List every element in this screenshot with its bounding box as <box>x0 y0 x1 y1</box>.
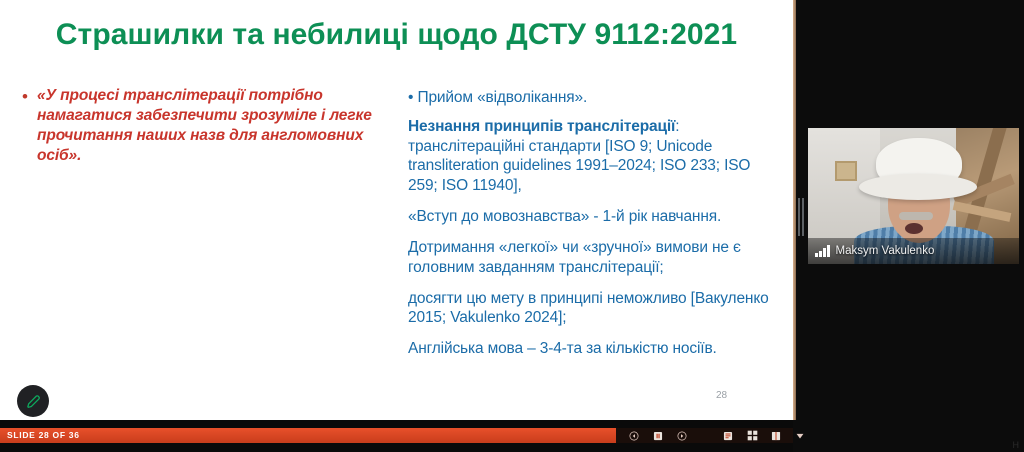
bullet-dot-icon: • <box>22 86 28 107</box>
right-paragraph-5: досягти цю мету в принципі неможливо [Ва… <box>408 289 778 329</box>
bullet-dot-icon: • <box>408 89 413 106</box>
right-paragraph-2-bold: принципів транслітерації <box>484 118 675 135</box>
video-person-hat-brim <box>859 174 977 200</box>
book-icon <box>771 431 781 441</box>
right-paragraph-4: Дотримання «легкої» чи «зручної» вимови … <box>408 238 778 278</box>
pencil-icon <box>25 393 42 410</box>
signal-bar-4 <box>827 245 830 257</box>
player-controls <box>628 428 806 443</box>
watermark-text: H <box>1013 440 1021 450</box>
signal-bar-3 <box>823 248 826 257</box>
grid-icon <box>747 430 758 441</box>
video-name-bar: Maksym Vakulenko <box>808 238 1019 264</box>
participant-name-label: Maksym Vakulenko <box>836 245 935 257</box>
forward-icon <box>677 431 687 441</box>
left-bullet-item: • «У процесі транслітерації потрібно нам… <box>22 86 374 167</box>
forward-button[interactable] <box>676 430 688 442</box>
video-bg-wall-frame <box>835 161 857 181</box>
video-tile[interactable]: Maksym Vakulenko <box>808 128 1019 264</box>
book-button[interactable] <box>770 430 782 442</box>
slide-right-column: • Прийом «відволікання». Незнання принци… <box>408 88 778 370</box>
handle-bar-1 <box>798 198 800 236</box>
slide-progress-bar[interactable]: SLIDE 28 OF 36 <box>0 428 793 443</box>
right-paragraph-6: Англійська мова – 3-4-та за кількістю но… <box>408 339 778 359</box>
rewind-icon <box>629 431 639 441</box>
video-person-moustache <box>899 212 933 220</box>
grid-view-button[interactable] <box>746 430 758 442</box>
right-paragraph-1-text: Прийом «відволікання». <box>417 89 587 106</box>
slide-left-column: • «У процесі транслітерації потрібно нам… <box>22 86 374 167</box>
player-bottom-bar: SLIDE 28 OF 36 <box>0 420 793 452</box>
signal-bar-2 <box>819 251 822 258</box>
chevron-down-icon <box>795 431 805 441</box>
panel-divider <box>793 0 796 420</box>
notes-button[interactable] <box>722 430 734 442</box>
panel-resize-handle[interactable] <box>798 198 806 236</box>
signal-bars-icon <box>815 245 830 257</box>
play-pause-button[interactable] <box>652 430 664 442</box>
rewind-button[interactable] <box>628 430 640 442</box>
notes-icon <box>723 431 733 441</box>
slide-page-number: 28 <box>716 390 727 401</box>
signal-bar-1 <box>815 253 818 257</box>
presentation-viewer: Страшилки та небилиці щодо ДСТУ 9112:202… <box>0 0 1024 452</box>
pause-icon <box>653 431 663 441</box>
right-paragraph-1: • Прийом «відволікання». <box>408 88 778 108</box>
more-options-button[interactable] <box>794 430 806 442</box>
slide-progress-label: SLIDE 28 OF 36 <box>7 428 80 443</box>
annotate-button[interactable] <box>17 385 49 417</box>
left-quote-text: «У процесі транслітерації потрібно намаг… <box>37 86 374 167</box>
handle-bar-2 <box>802 198 804 236</box>
slide-progress-fill <box>0 428 616 443</box>
right-paragraph-3: «Вступ до мовознавства» - 1-й рік навчан… <box>408 207 778 227</box>
slide-stage[interactable]: Страшилки та небилиці щодо ДСТУ 9112:202… <box>0 0 793 420</box>
right-paragraph-2: Незнання принципів транслітерації: транс… <box>408 117 778 196</box>
slide-title: Страшилки та небилиці щодо ДСТУ 9112:202… <box>0 18 793 52</box>
right-paragraph-2-lead: Незнання <box>408 118 484 135</box>
